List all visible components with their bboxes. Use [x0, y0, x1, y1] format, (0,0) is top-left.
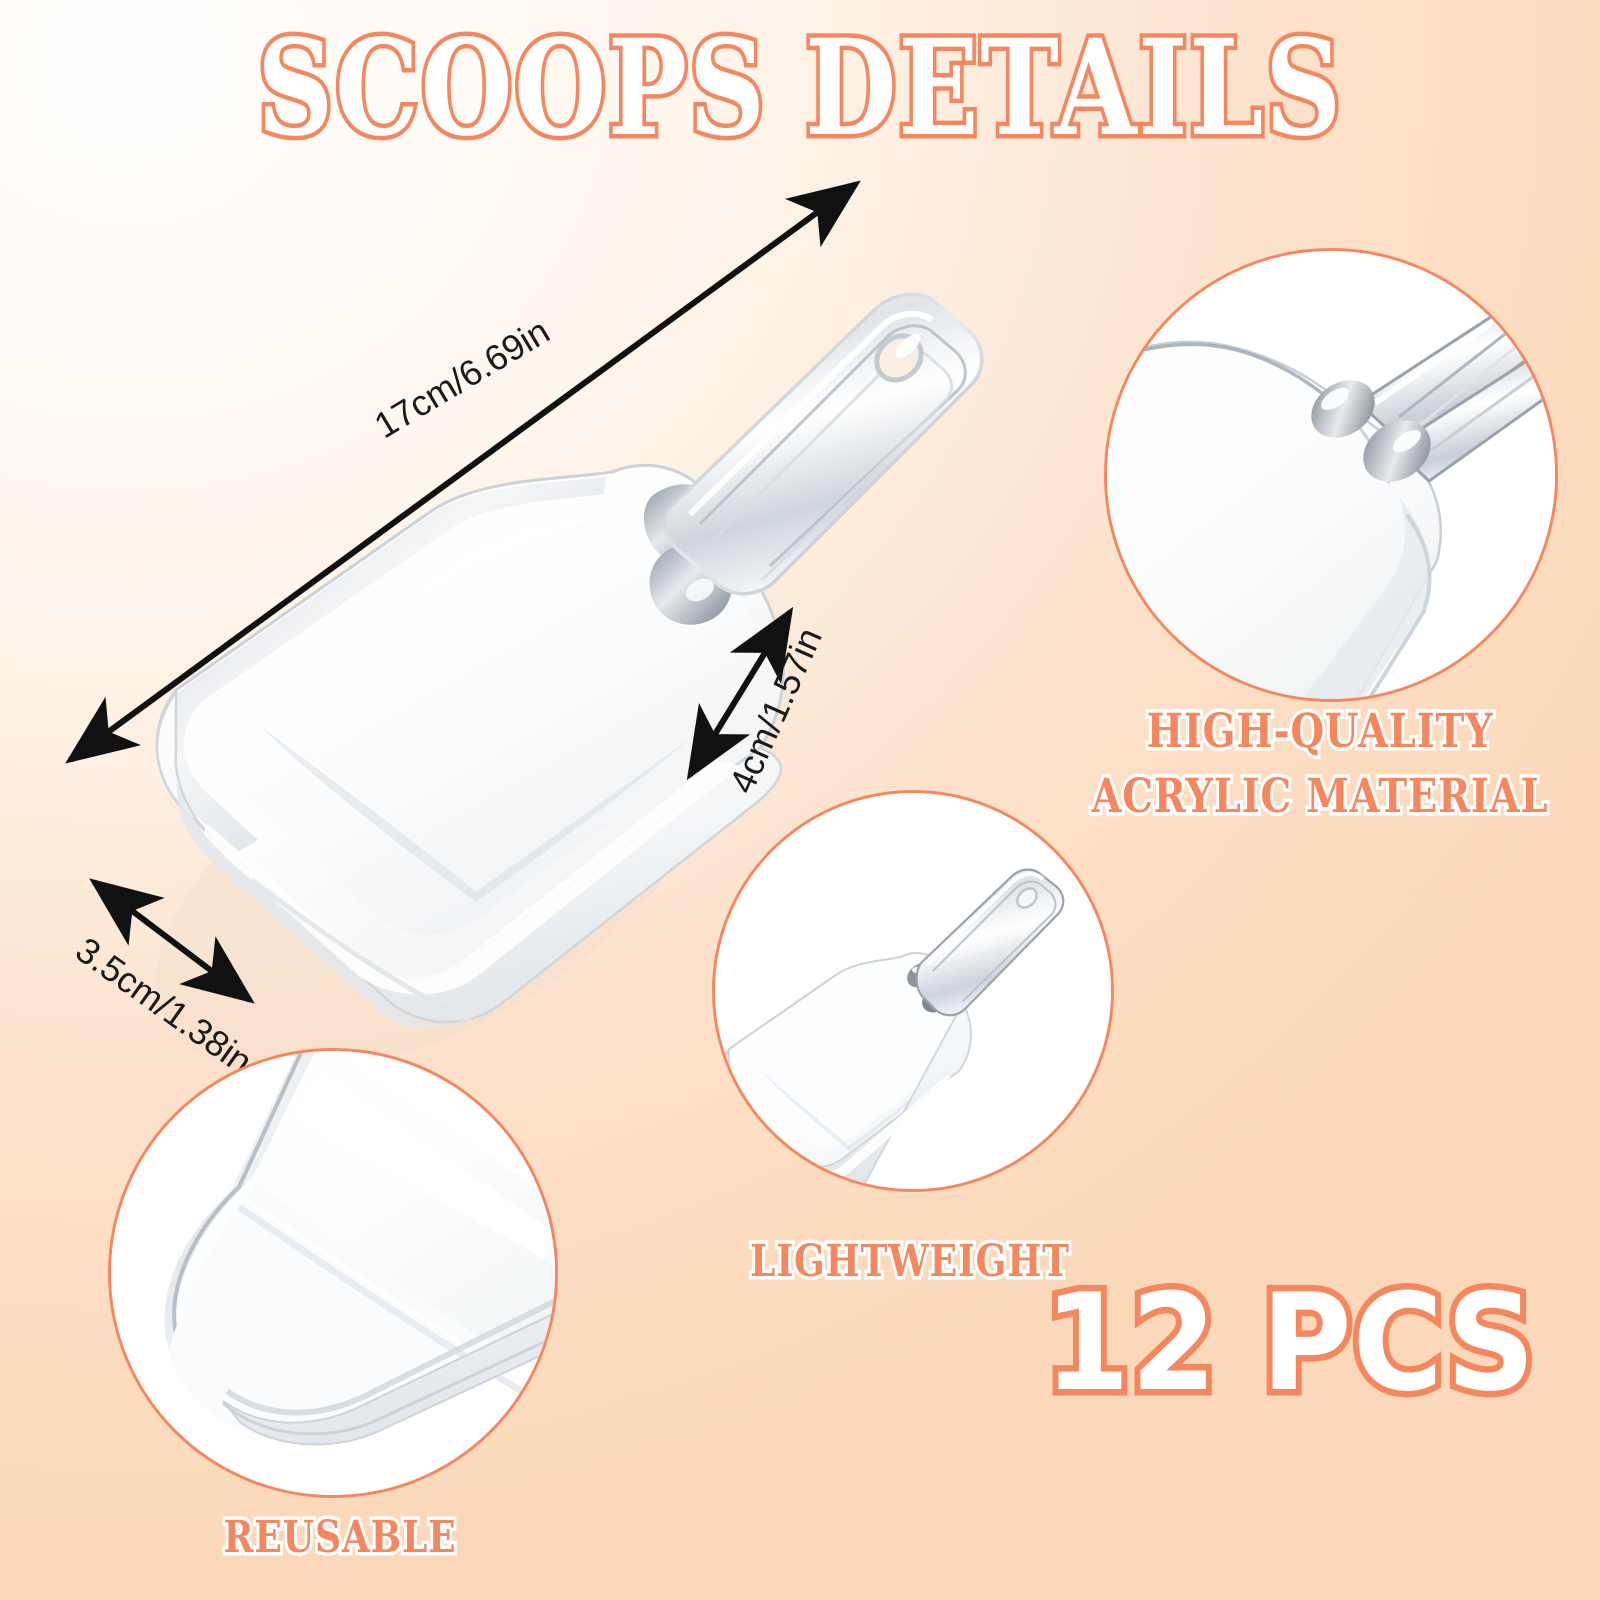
infographic-page: 17cm/6.69in 4cm/1.57in 3.5cm/1.38in [0, 0, 1600, 1600]
feature-label-lightweight: LIGHTWEIGHT [738, 1236, 1082, 1287]
full-scoop-view-image [715, 793, 1111, 1189]
scoop-lip-macro-image [111, 1051, 555, 1495]
callout-circle-lightweight [712, 790, 1114, 1192]
page-title: SCOOPS DETAILS [160, 18, 1440, 161]
quantity-badge: 12 PCS [1032, 1276, 1547, 1410]
feature-label-acrylic: HIGH-QUALITY ACRYLIC MATERIAL [1090, 700, 1549, 830]
length-dimension-arrow [70, 184, 856, 760]
callout-circle-reusable [108, 1048, 558, 1498]
handle-joint-closeup-image [1107, 251, 1555, 699]
feature-label-reusable: REUSABLE [160, 1512, 521, 1563]
callout-circle-acrylic [1104, 248, 1558, 702]
